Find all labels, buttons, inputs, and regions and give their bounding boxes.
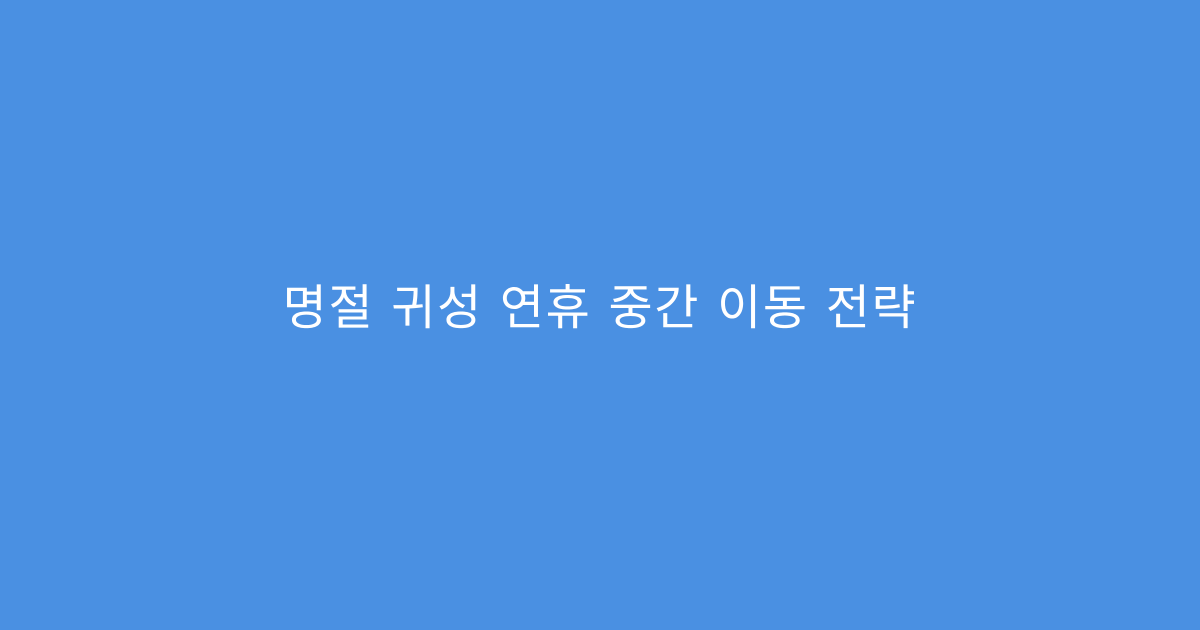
banner-card: 명절 귀성 연휴 중간 이동 전략 bbox=[0, 0, 1200, 630]
banner-content: 명절 귀성 연휴 중간 이동 전략 bbox=[0, 280, 1200, 337]
banner-headline: 명절 귀성 연휴 중간 이동 전략 bbox=[283, 280, 918, 337]
